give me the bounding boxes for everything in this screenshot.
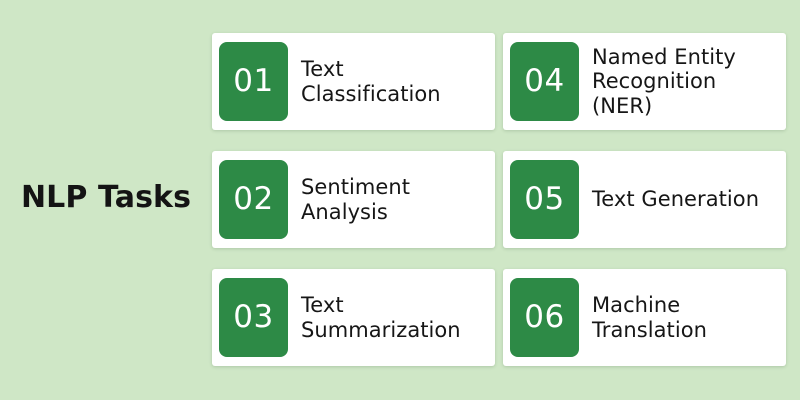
task-label: Text Summarization bbox=[288, 293, 495, 342]
nlp-tasks-infographic: NLP Tasks 01 Text Classification 04 Name… bbox=[0, 0, 800, 400]
task-card-grid: 01 Text Classification 04 Named Entity R… bbox=[212, 33, 786, 363]
task-number: 03 bbox=[233, 302, 273, 333]
task-number-badge: 01 bbox=[219, 42, 288, 121]
task-number-badge: 03 bbox=[219, 278, 288, 357]
task-number-badge: 05 bbox=[510, 160, 579, 239]
task-card-06[interactable]: 06 Machine Translation bbox=[503, 269, 786, 366]
task-number: 05 bbox=[524, 184, 564, 215]
task-label: Text Classification bbox=[288, 57, 495, 106]
task-number: 06 bbox=[524, 302, 564, 333]
page-title: NLP Tasks bbox=[21, 183, 191, 213]
task-label: Named Entity Recognition (NER) bbox=[579, 45, 786, 119]
task-number-badge: 02 bbox=[219, 160, 288, 239]
task-card-01[interactable]: 01 Text Classification bbox=[212, 33, 495, 130]
title-block: NLP Tasks bbox=[0, 168, 212, 228]
task-card-03[interactable]: 03 Text Summarization bbox=[212, 269, 495, 366]
task-number: 02 bbox=[233, 184, 273, 215]
task-number: 04 bbox=[524, 66, 564, 97]
task-label: Machine Translation bbox=[579, 293, 786, 342]
task-number-badge: 06 bbox=[510, 278, 579, 357]
task-card-02[interactable]: 02 Sentiment Analysis bbox=[212, 151, 495, 248]
task-card-05[interactable]: 05 Text Generation bbox=[503, 151, 786, 248]
task-label: Sentiment Analysis bbox=[288, 175, 495, 224]
task-number-badge: 04 bbox=[510, 42, 579, 121]
task-label: Text Generation bbox=[579, 187, 786, 212]
task-card-04[interactable]: 04 Named Entity Recognition (NER) bbox=[503, 33, 786, 130]
task-number: 01 bbox=[233, 66, 273, 97]
